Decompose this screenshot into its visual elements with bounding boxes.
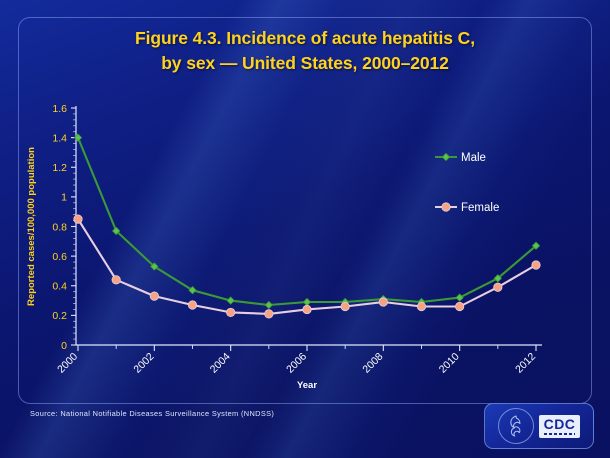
chart-svg: 00.20.40.60.811.21.41.620002002200420062… [0,0,610,458]
data-point-female [417,302,425,310]
line-chart: 00.20.40.60.811.21.41.620002002200420062… [0,0,610,458]
x-axis-tick-label: 2010 [437,351,462,376]
cdc-text: CDC [544,417,576,431]
cdc-wordmark: CDC [539,415,581,438]
y-axis-title: Reported cases/100,000 population [26,147,37,306]
hhs-seal-icon [498,408,534,444]
x-axis-tick-label: 2004 [208,351,233,376]
data-point-female [188,301,196,309]
y-axis-tick-label: 1.4 [52,132,67,144]
data-point-female [265,310,273,318]
data-point-female [303,305,311,313]
source-note: Source: National Notifiable Diseases Sur… [30,409,274,418]
legend-label-female: Female [461,202,499,214]
x-axis-title: Year [297,380,317,391]
y-axis-tick-label: 0.8 [52,221,67,233]
y-axis-tick-label: 1 [61,192,67,204]
data-point-female [341,302,349,310]
x-axis-tick-label: 2008 [360,351,385,376]
y-axis-tick-label: 1.6 [52,103,67,115]
cdc-underline [544,433,576,435]
x-axis-tick-label: 2006 [284,351,309,376]
data-point-female [74,215,82,223]
legend-marker-female [442,203,450,211]
hhs-bird-glyph [503,413,529,439]
plot-area: 00.20.40.60.811.21.41.620002002200420062… [26,103,542,391]
data-point-male [227,297,234,304]
y-axis-tick-label: 0 [61,340,67,352]
data-point-female [532,261,540,269]
slide-background: Figure 4.3. Incidence of acute hepatitis… [0,0,610,458]
y-axis-tick-label: 0.6 [52,251,67,263]
x-axis-tick-label: 2012 [513,351,538,376]
data-point-female [226,308,234,316]
x-axis-tick-label: 2000 [55,351,80,376]
data-point-female [494,283,502,291]
y-axis-tick-label: 1.2 [52,162,67,174]
x-axis-tick-label: 2002 [131,351,156,376]
data-point-male [303,298,310,305]
data-point-female [455,302,463,310]
legend-label-male: Male [461,152,486,164]
data-point-female [112,276,120,284]
legend-marker-male [442,153,449,160]
y-axis-tick-label: 0.2 [52,310,67,322]
data-point-male [265,301,272,308]
cdc-logo: CDC [484,403,594,449]
y-axis-tick-label: 0.4 [52,281,67,293]
data-point-female [379,298,387,306]
data-point-male [456,294,463,301]
data-point-female [150,292,158,300]
